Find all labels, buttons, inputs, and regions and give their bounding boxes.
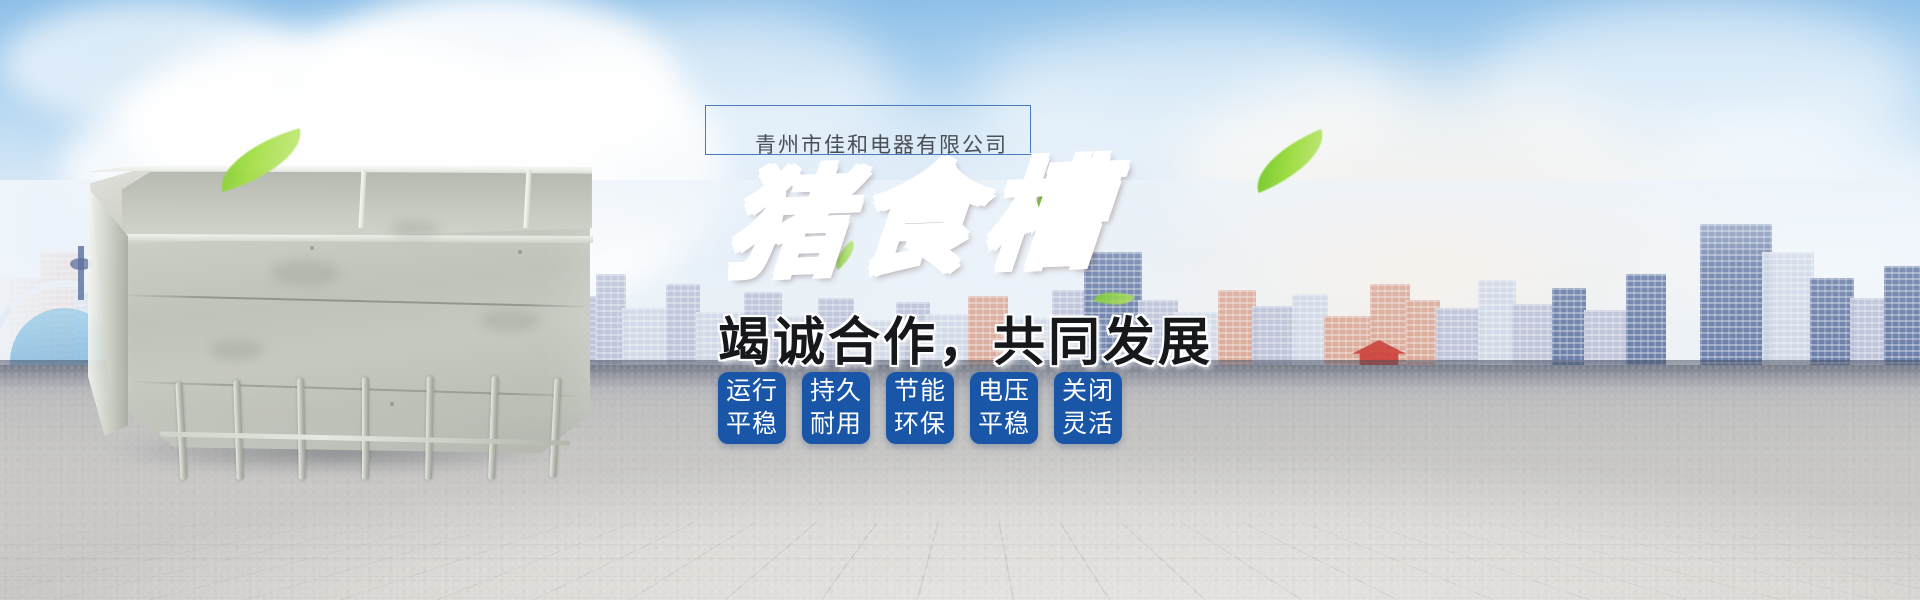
feature-badge[interactable]: 关闭 灵活 (1054, 372, 1122, 444)
banner-copy: 青州市佳和电器有限公司 猪食槽 竭诚合作，共同发展 运行 平稳 持久 耐用 节能… (700, 100, 1460, 560)
feature-badge[interactable]: 运行 平稳 (718, 372, 786, 444)
badge-line-2: 灵活 (1062, 408, 1114, 441)
feature-badge[interactable]: 持久 耐用 (802, 372, 870, 444)
feature-badge[interactable]: 节能 环保 (886, 372, 954, 444)
badge-line-1: 电压 (978, 375, 1030, 408)
badge-line-1: 关闭 (1062, 375, 1114, 408)
subtitle-slogan: 竭诚合作，共同发展 (718, 300, 1213, 375)
badge-line-2: 耐用 (810, 408, 862, 441)
trough-divider-bars (60, 150, 620, 480)
badge-line-2: 环保 (894, 408, 946, 441)
badge-line-2: 平稳 (978, 408, 1030, 441)
product-image-steel-trough (60, 150, 620, 480)
promo-banner: 青州市佳和电器有限公司 猪食槽 竭诚合作，共同发展 运行 平稳 持久 耐用 节能… (0, 0, 1920, 600)
badge-line-2: 平稳 (726, 408, 778, 441)
page-title: 猪食槽 (722, 155, 1118, 289)
badge-line-1: 运行 (726, 375, 778, 408)
badge-line-1: 持久 (810, 375, 862, 408)
feature-badge-list: 运行 平稳 持久 耐用 节能 环保 电压 平稳 关闭 灵活 (718, 372, 1122, 444)
feature-badge[interactable]: 电压 平稳 (970, 372, 1038, 444)
badge-line-1: 节能 (894, 375, 946, 408)
company-name-frame-right-edge (1030, 105, 1031, 153)
